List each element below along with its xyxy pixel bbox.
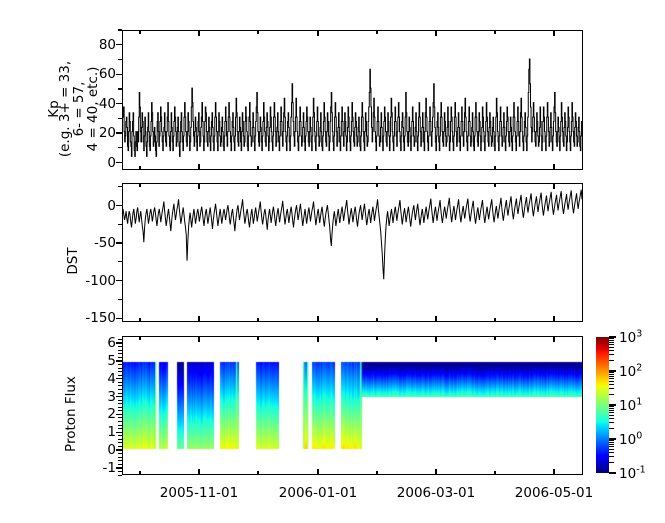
tickmark	[553, 183, 554, 189]
tickmark	[609, 462, 614, 463]
tick-label: 40	[72, 96, 116, 112]
tickmark	[609, 394, 614, 395]
colorbar-mantissa: 10	[619, 330, 636, 346]
dst-panel	[122, 183, 583, 322]
colorbar-tick-label: 102	[619, 362, 642, 380]
tickmark	[609, 374, 614, 375]
tick-label: 2006-03-01	[397, 485, 475, 501]
tick-label: 2006-05-01	[515, 485, 593, 501]
tickmark	[257, 471, 258, 475]
tickmark	[609, 384, 614, 385]
tickmark	[435, 183, 436, 189]
tickmark	[376, 183, 377, 187]
dst-series	[123, 184, 582, 321]
tickmark	[257, 30, 258, 34]
kp-series	[123, 31, 582, 169]
colorbar-tick-label: 101	[619, 396, 642, 414]
tickmark	[257, 336, 258, 340]
tickmark	[139, 166, 140, 170]
tickmark	[376, 471, 377, 475]
tickmark	[609, 472, 616, 473]
tickmark	[317, 30, 318, 36]
tick-label: 3	[76, 389, 116, 405]
tickmark	[435, 469, 436, 475]
tickmark	[139, 471, 140, 475]
tick-label: 4	[76, 371, 116, 387]
colorbar-exponent: 3	[636, 328, 642, 339]
tick-label: 0	[64, 198, 116, 214]
tickmark	[376, 336, 377, 340]
tickmark	[609, 381, 614, 382]
tickmark	[317, 316, 318, 322]
tick-label: 2006-01-01	[279, 485, 357, 501]
tickmark	[553, 336, 554, 342]
tick-label: 1	[76, 424, 116, 440]
flux-heatmap	[123, 337, 582, 474]
colorbar-exponent: 1	[636, 396, 642, 407]
tick-label: 0	[76, 442, 116, 458]
tickmark	[609, 418, 614, 419]
tickmark	[198, 164, 199, 170]
colorbar-tick-label: 10-1	[619, 464, 646, 482]
tick-label: 2	[76, 406, 116, 422]
tickmark	[609, 360, 614, 361]
colorbar-mantissa: 10	[619, 432, 636, 448]
tickmark	[435, 30, 436, 36]
tickmark	[494, 471, 495, 475]
tickmark	[198, 183, 199, 189]
tickmark	[317, 469, 318, 475]
tick-label: 5	[76, 353, 116, 369]
tickmark	[609, 452, 614, 453]
tickmark	[609, 354, 614, 355]
tickmark	[609, 410, 614, 411]
tickmark	[609, 444, 614, 445]
tickmark	[609, 342, 614, 343]
tickmark	[609, 408, 614, 409]
tickmark	[609, 428, 614, 429]
colorbar-tick-label: 100	[619, 430, 642, 448]
tickmark	[553, 469, 554, 475]
tickmark	[317, 183, 318, 189]
tick-label: -50	[64, 235, 116, 251]
tick-label: 60	[72, 66, 116, 82]
tickmark	[139, 183, 140, 187]
tickmark	[609, 446, 614, 447]
tick-label: -150	[64, 310, 116, 326]
tickmark	[139, 318, 140, 322]
tickmark	[494, 166, 495, 170]
colorbar-tick-label: 103	[619, 328, 642, 346]
tick-label: 0	[72, 155, 116, 171]
tickmark	[609, 338, 614, 339]
flux-panel	[122, 336, 583, 475]
tickmark	[609, 422, 614, 423]
tickmark	[609, 406, 614, 407]
dst-line	[123, 190, 582, 280]
tickmark	[609, 440, 614, 441]
tickmark	[257, 166, 258, 170]
tickmark	[139, 336, 140, 340]
tickmark	[317, 164, 318, 170]
tickmark	[435, 316, 436, 322]
tickmark	[494, 30, 495, 34]
tick-label: 2005-11-01	[160, 485, 238, 501]
tickmark	[609, 449, 614, 450]
tick-label: 20	[72, 125, 116, 141]
tickmark	[609, 456, 614, 457]
colorbar-mantissa: 10	[619, 466, 636, 482]
tickmark	[609, 388, 614, 389]
kp-line	[123, 59, 582, 156]
tickmark	[376, 318, 377, 322]
tickmark	[317, 336, 318, 342]
tickmark	[376, 30, 377, 34]
tickmark	[257, 183, 258, 187]
tickmark	[435, 336, 436, 342]
tickmark	[609, 412, 614, 413]
tickmark	[198, 30, 199, 36]
tickmark	[609, 442, 614, 443]
tickmark	[376, 166, 377, 170]
kp-panel	[122, 30, 583, 170]
tick-label: 6	[76, 335, 116, 351]
tickmark	[494, 318, 495, 322]
tickmark	[198, 316, 199, 322]
tickmark	[609, 340, 614, 341]
tickmark	[609, 378, 614, 379]
tick-label: 80	[72, 37, 116, 53]
tickmark	[553, 164, 554, 170]
tickmark	[435, 164, 436, 170]
tickmark	[609, 344, 614, 345]
dst-ylabel: DST	[65, 201, 81, 321]
tick-label: -100	[64, 273, 116, 289]
tickmark	[139, 30, 140, 34]
tickmark	[494, 183, 495, 187]
colorbar-mantissa: 10	[619, 398, 636, 414]
colorbar-gradient	[596, 337, 609, 473]
colorbar-exponent: 0	[636, 430, 642, 441]
figure-root: Kp (e.g. 3+ = 33, 6- = 57, 4 = 40, etc.)…	[0, 0, 665, 523]
tickmark	[198, 336, 199, 342]
tickmark	[257, 318, 258, 322]
tickmark	[494, 336, 495, 340]
tickmark	[198, 469, 199, 475]
colorbar-mantissa: 10	[619, 364, 636, 380]
tickmark	[609, 376, 614, 377]
tickmark	[553, 30, 554, 36]
tickmark	[609, 415, 614, 416]
tickmark	[609, 372, 614, 373]
tickmark	[609, 347, 614, 348]
tick-label: -1	[76, 460, 116, 476]
tickmark	[553, 316, 554, 322]
tickmark	[609, 350, 614, 351]
colorbar-exponent: -1	[636, 464, 645, 475]
colorbar-exponent: 2	[636, 362, 642, 373]
